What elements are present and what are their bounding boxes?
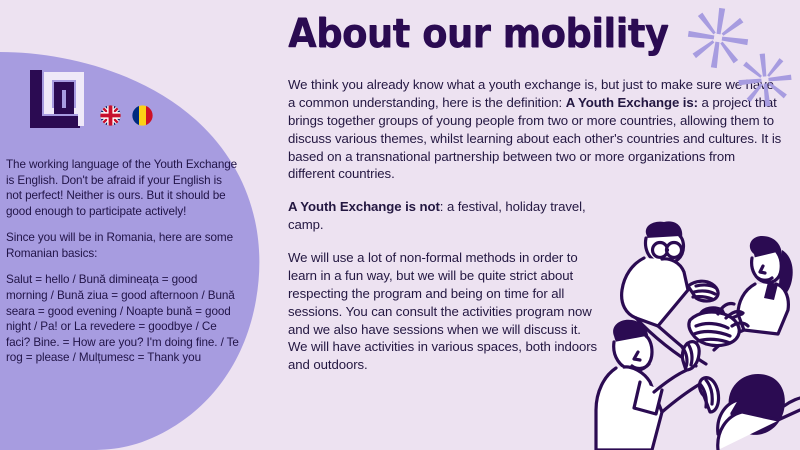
flag-list — [100, 105, 153, 130]
body-copy: We think you already know what a youth e… — [288, 76, 783, 389]
romanian-intro: Since you will be in Romania, here are s… — [6, 230, 240, 261]
language-note: The working language of the Youth Exchan… — [6, 157, 240, 219]
flag-united-kingdom — [100, 105, 121, 126]
definition-paragraph: We think you already know what a youth e… — [288, 76, 783, 183]
left-info-panel: The working language of the Youth Exchan… — [0, 0, 252, 450]
left-panel-text: The working language of the Youth Exchan… — [6, 157, 240, 366]
flag-romania — [132, 105, 153, 126]
methods-paragraph: We will use a lot of non-formal methods … — [288, 249, 603, 374]
page-title: About our mobility — [288, 14, 668, 54]
main-content: About our mobility We think you already … — [281, 0, 793, 450]
nested-square-spiral-logo — [28, 68, 86, 130]
definition-lead: A Youth Exchange is: — [566, 95, 698, 110]
negation-lead: A Youth Exchange is not — [288, 199, 440, 214]
logo-and-flags-row — [28, 68, 153, 130]
romanian-phrases: Salut = hello / Bună dimineața = good mo… — [6, 272, 240, 365]
slide-canvas: The working language of the Youth Exchan… — [0, 0, 800, 450]
negation-paragraph: A Youth Exchange is not: a festival, hol… — [288, 198, 603, 234]
